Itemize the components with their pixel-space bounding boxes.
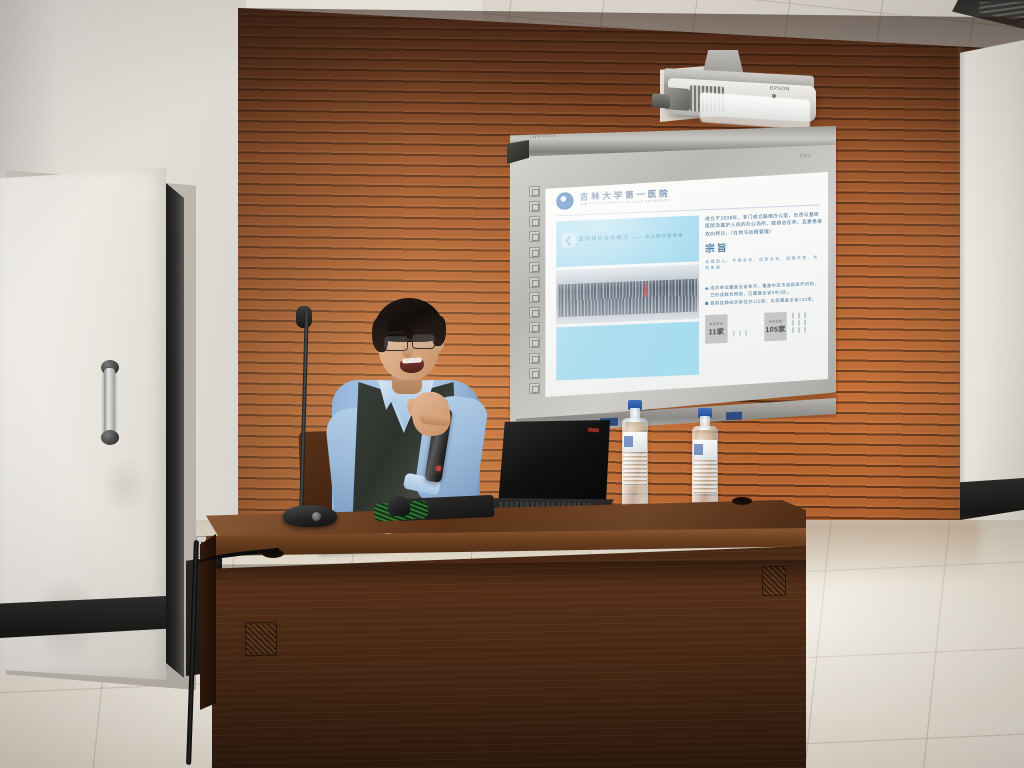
slide-headline: 宗旨 <box>705 236 823 255</box>
stat-box-members: 成员单位 11家 <box>705 314 727 343</box>
person-icon <box>797 319 801 325</box>
water-bottle-right[interactable] <box>692 408 718 516</box>
bullet-dot-icon <box>705 302 708 305</box>
projected-slide-screen[interactable]: 吉林大学第一医院 THE FIRST HOSPITAL OF JILIN UNI… <box>544 172 828 397</box>
desk-cable-grommet-right <box>732 497 752 505</box>
cable-clamp <box>388 496 410 516</box>
room-photo-scene: EPSON IQBoard EDU 吉林大学第一医院 THE FIRST HOS… <box>0 0 1024 768</box>
whiteboard-tool-capture-icon[interactable] <box>529 337 540 348</box>
bottle-ridges-right <box>693 460 717 494</box>
slide-stats-row: 成员单位 11家 协作医院 105家 <box>705 310 827 356</box>
stat-people-icons-members <box>732 330 749 337</box>
presenter-eyebrow-right <box>413 329 431 333</box>
person-icon <box>803 319 807 325</box>
slide-section-chip-icon: ❮ <box>561 233 575 248</box>
slide-group-photo <box>556 264 699 324</box>
glasses-lens-right <box>412 334 435 349</box>
presentation-slide: 吉林大学第一医院 THE FIRST HOSPITAL OF JILIN UNI… <box>544 172 828 397</box>
whiteboard-marker-blue-right[interactable] <box>726 412 742 421</box>
person-icon <box>803 312 807 318</box>
whiteboard-tool-line-icon[interactable] <box>529 246 540 257</box>
whiteboard-tool-shapes-icon[interactable] <box>529 231 540 242</box>
stat-people-icons-partners <box>791 312 808 333</box>
whiteboard-tool-keyboard-icon[interactable] <box>529 352 540 363</box>
person-icon <box>791 313 795 319</box>
laptop-brand-logo-icon <box>588 428 599 433</box>
slide-section-tag: 医院组织架构概况 <box>579 234 630 243</box>
whiteboard-corner-label: EDU <box>800 153 811 159</box>
whiteboard-tool-text-icon[interactable] <box>529 277 540 288</box>
podium-carved-panel-right <box>762 566 786 597</box>
stat-box-partners: 协作医院 105家 <box>764 312 786 341</box>
whiteboard-side-toolbar[interactable] <box>528 186 540 394</box>
whiteboard-tool-eraser-icon[interactable] <box>529 201 540 212</box>
whiteboard-tool-spotlight-icon[interactable] <box>529 322 540 333</box>
gooseneck-mic-base[interactable] <box>283 505 337 527</box>
presenter-nose <box>402 344 413 358</box>
person-icon <box>791 327 795 333</box>
person-icon <box>738 330 742 336</box>
person-icon <box>744 330 748 336</box>
bottle-ridges-left <box>623 452 647 486</box>
laptop-screen[interactable] <box>498 420 610 512</box>
slide-right-column: 成立于2009年，专门成立联络办公室，负责与基层医院及医护人员的办公场所、联络总… <box>705 210 823 307</box>
whiteboard-tool-undo-icon[interactable] <box>529 292 540 303</box>
person-icon <box>797 312 801 318</box>
stat-value: 105家 <box>765 324 785 335</box>
projector-brand-label: EPSON <box>770 85 790 92</box>
bottle-shoulder-right <box>695 430 715 440</box>
photo-projection-haze <box>556 264 699 324</box>
slide-bullet-list: 成员单位覆盖全省各市，覆盖市区市县级医疗机构，已形成联合网络，已覆盖全省9市3区… <box>705 280 823 307</box>
door-handle-mount-bottom <box>101 430 119 445</box>
slide-section-sub: —— 成立医疗联合体 <box>632 232 684 240</box>
stat-label: 成员单位 <box>709 321 723 326</box>
whiteboard-tool-redo-icon[interactable] <box>529 307 540 318</box>
bottle-shoulder-left <box>625 422 645 432</box>
whiteboard-tool-menu-icon[interactable] <box>529 383 540 394</box>
person-icon <box>803 326 807 332</box>
projector-lens-head <box>652 93 670 108</box>
bottle-label-accent-right <box>694 444 703 455</box>
person-icon <box>732 330 736 336</box>
podium-carved-panel-left <box>245 622 277 657</box>
university-emblem-icon <box>556 192 573 210</box>
floor-wall-reflection <box>780 520 980 580</box>
slide-left-column: ❮ 医院组织架构概况 —— 成立医疗联合体 <box>556 215 699 384</box>
slide-lower-band <box>556 322 699 381</box>
water-bottle-left[interactable] <box>622 400 648 508</box>
bullet-dot-icon <box>705 287 708 290</box>
slide-body-paragraph: 成立于2009年，专门成立联络办公室，负责与基层医院及医护人员的办公场所、联络总… <box>705 210 823 237</box>
whiteboard-tool-select-icon[interactable] <box>529 216 540 227</box>
whiteboard-tool-pen-icon[interactable] <box>529 186 540 197</box>
glasses-bridge <box>405 339 413 341</box>
person-icon <box>797 327 801 333</box>
institution-name-block: 吉林大学第一医院 THE FIRST HOSPITAL OF JILIN UNI… <box>580 190 671 207</box>
projector-indicator-led <box>772 94 776 98</box>
slide-subline: 合理划入、平等互利、优势互利、资源共享、共同发展 <box>705 254 823 271</box>
whiteboard-brand-label: IQBoard <box>530 132 557 139</box>
mic-base-button-icon[interactable] <box>312 512 321 521</box>
whiteboard-tool-page-icon[interactable] <box>529 367 540 378</box>
stat-label: 协作医院 <box>769 319 783 324</box>
whiteboard-tool-highlighter-icon[interactable] <box>529 261 540 272</box>
bottle-label-accent-left <box>624 436 633 447</box>
stat-value: 11家 <box>709 326 725 337</box>
slide-section-band: ❮ 医院组织架构概况 —— 成立医疗联合体 <box>556 215 699 267</box>
person-icon <box>791 320 795 326</box>
